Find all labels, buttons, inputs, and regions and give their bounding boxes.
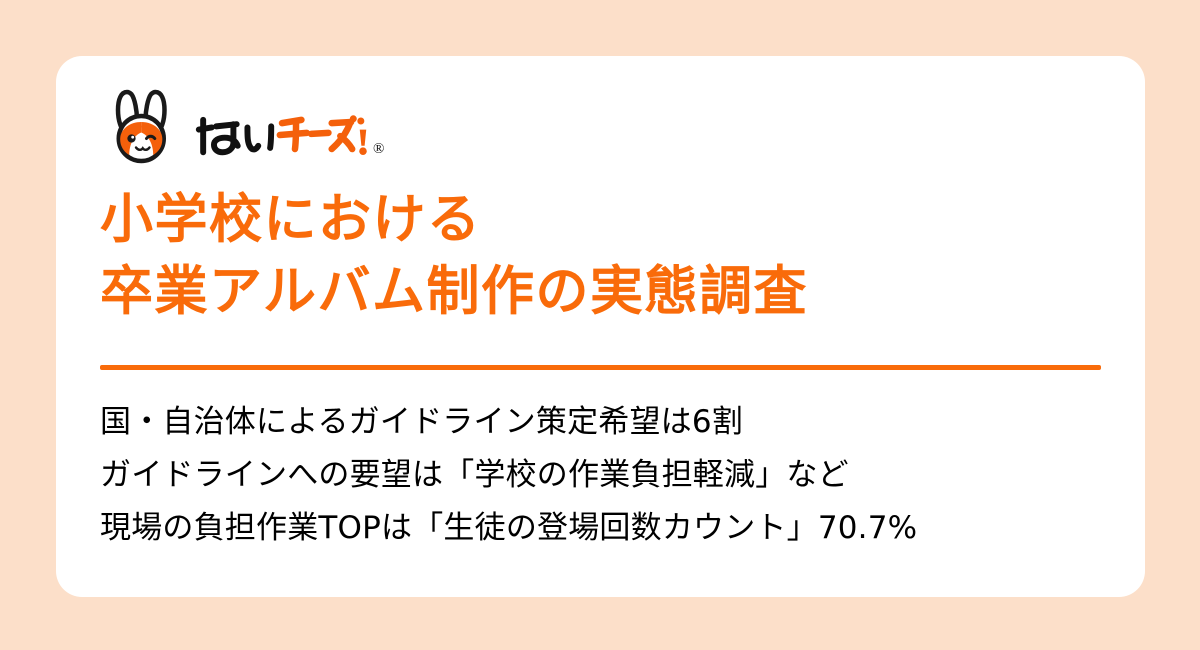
page-title-line-2: 卒業アルバム制作の実態調査 xyxy=(100,256,808,328)
summary-point-2: ガイドラインへの要望は「学校の作業負担軽減」など xyxy=(100,449,917,502)
poster-canvas: ® 小学校における 卒業アルバム制作の実態調査 国・自治体によるガイドライン策定… xyxy=(0,0,1200,650)
registered-trademark-icon: ® xyxy=(373,142,384,162)
page-title: 小学校における 卒業アルバム制作の実態調査 xyxy=(100,184,808,328)
brand-logo: ® xyxy=(104,86,384,164)
rabbit-mascot-icon xyxy=(104,86,180,164)
title-divider xyxy=(100,365,1101,370)
page-title-line-1: 小学校における xyxy=(100,184,808,256)
brand-wordmark-graphic xyxy=(194,108,370,162)
summary-points: 国・自治体によるガイドライン策定希望は6割 ガイドラインへの要望は「学校の作業負… xyxy=(100,396,917,555)
content-card: ® 小学校における 卒業アルバム制作の実態調査 国・自治体によるガイドライン策定… xyxy=(56,56,1145,597)
summary-point-1: 国・自治体によるガイドライン策定希望は6割 xyxy=(100,396,917,449)
summary-point-3: 現場の負担作業TOPは「生徒の登場回数カウント」70.7% xyxy=(100,502,917,555)
brand-wordmark: ® xyxy=(194,108,384,164)
